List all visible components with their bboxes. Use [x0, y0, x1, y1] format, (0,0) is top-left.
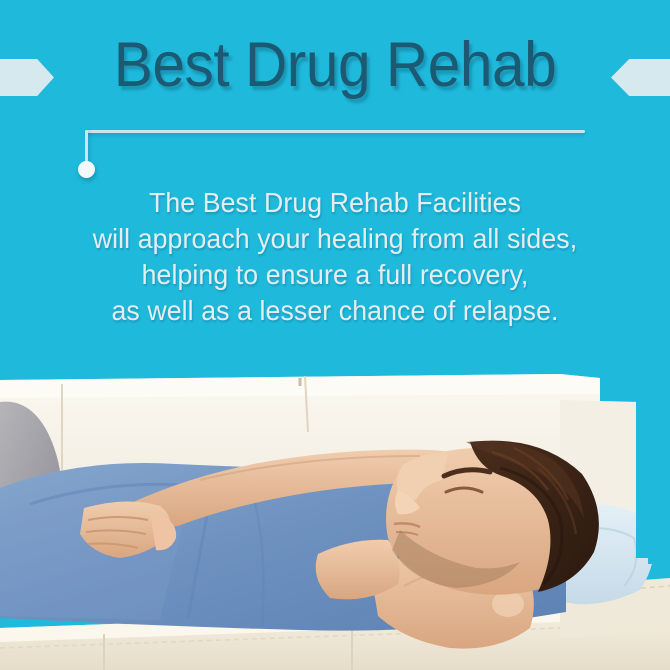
dot-marker-icon	[78, 161, 95, 178]
header-band: Best Drug Rehab The Best Drug Rehab Faci…	[0, 0, 670, 375]
divider-line	[85, 130, 585, 133]
subheading-line-4: as well as a lesser chance of relapse.	[10, 293, 660, 329]
subheading-block: The Best Drug Rehab Facilities will appr…	[10, 185, 660, 329]
subheading-line-2: will approach your healing from all side…	[10, 221, 660, 257]
page-title: Best Drug Rehab	[23, 34, 646, 97]
infographic-panel: Best Drug Rehab The Best Drug Rehab Faci…	[0, 0, 670, 670]
photo-man-sleeping-on-couch	[0, 372, 670, 670]
subheading-line-3: helping to ensure a full recovery,	[10, 257, 660, 293]
subheading-line-1: The Best Drug Rehab Facilities	[10, 185, 660, 221]
